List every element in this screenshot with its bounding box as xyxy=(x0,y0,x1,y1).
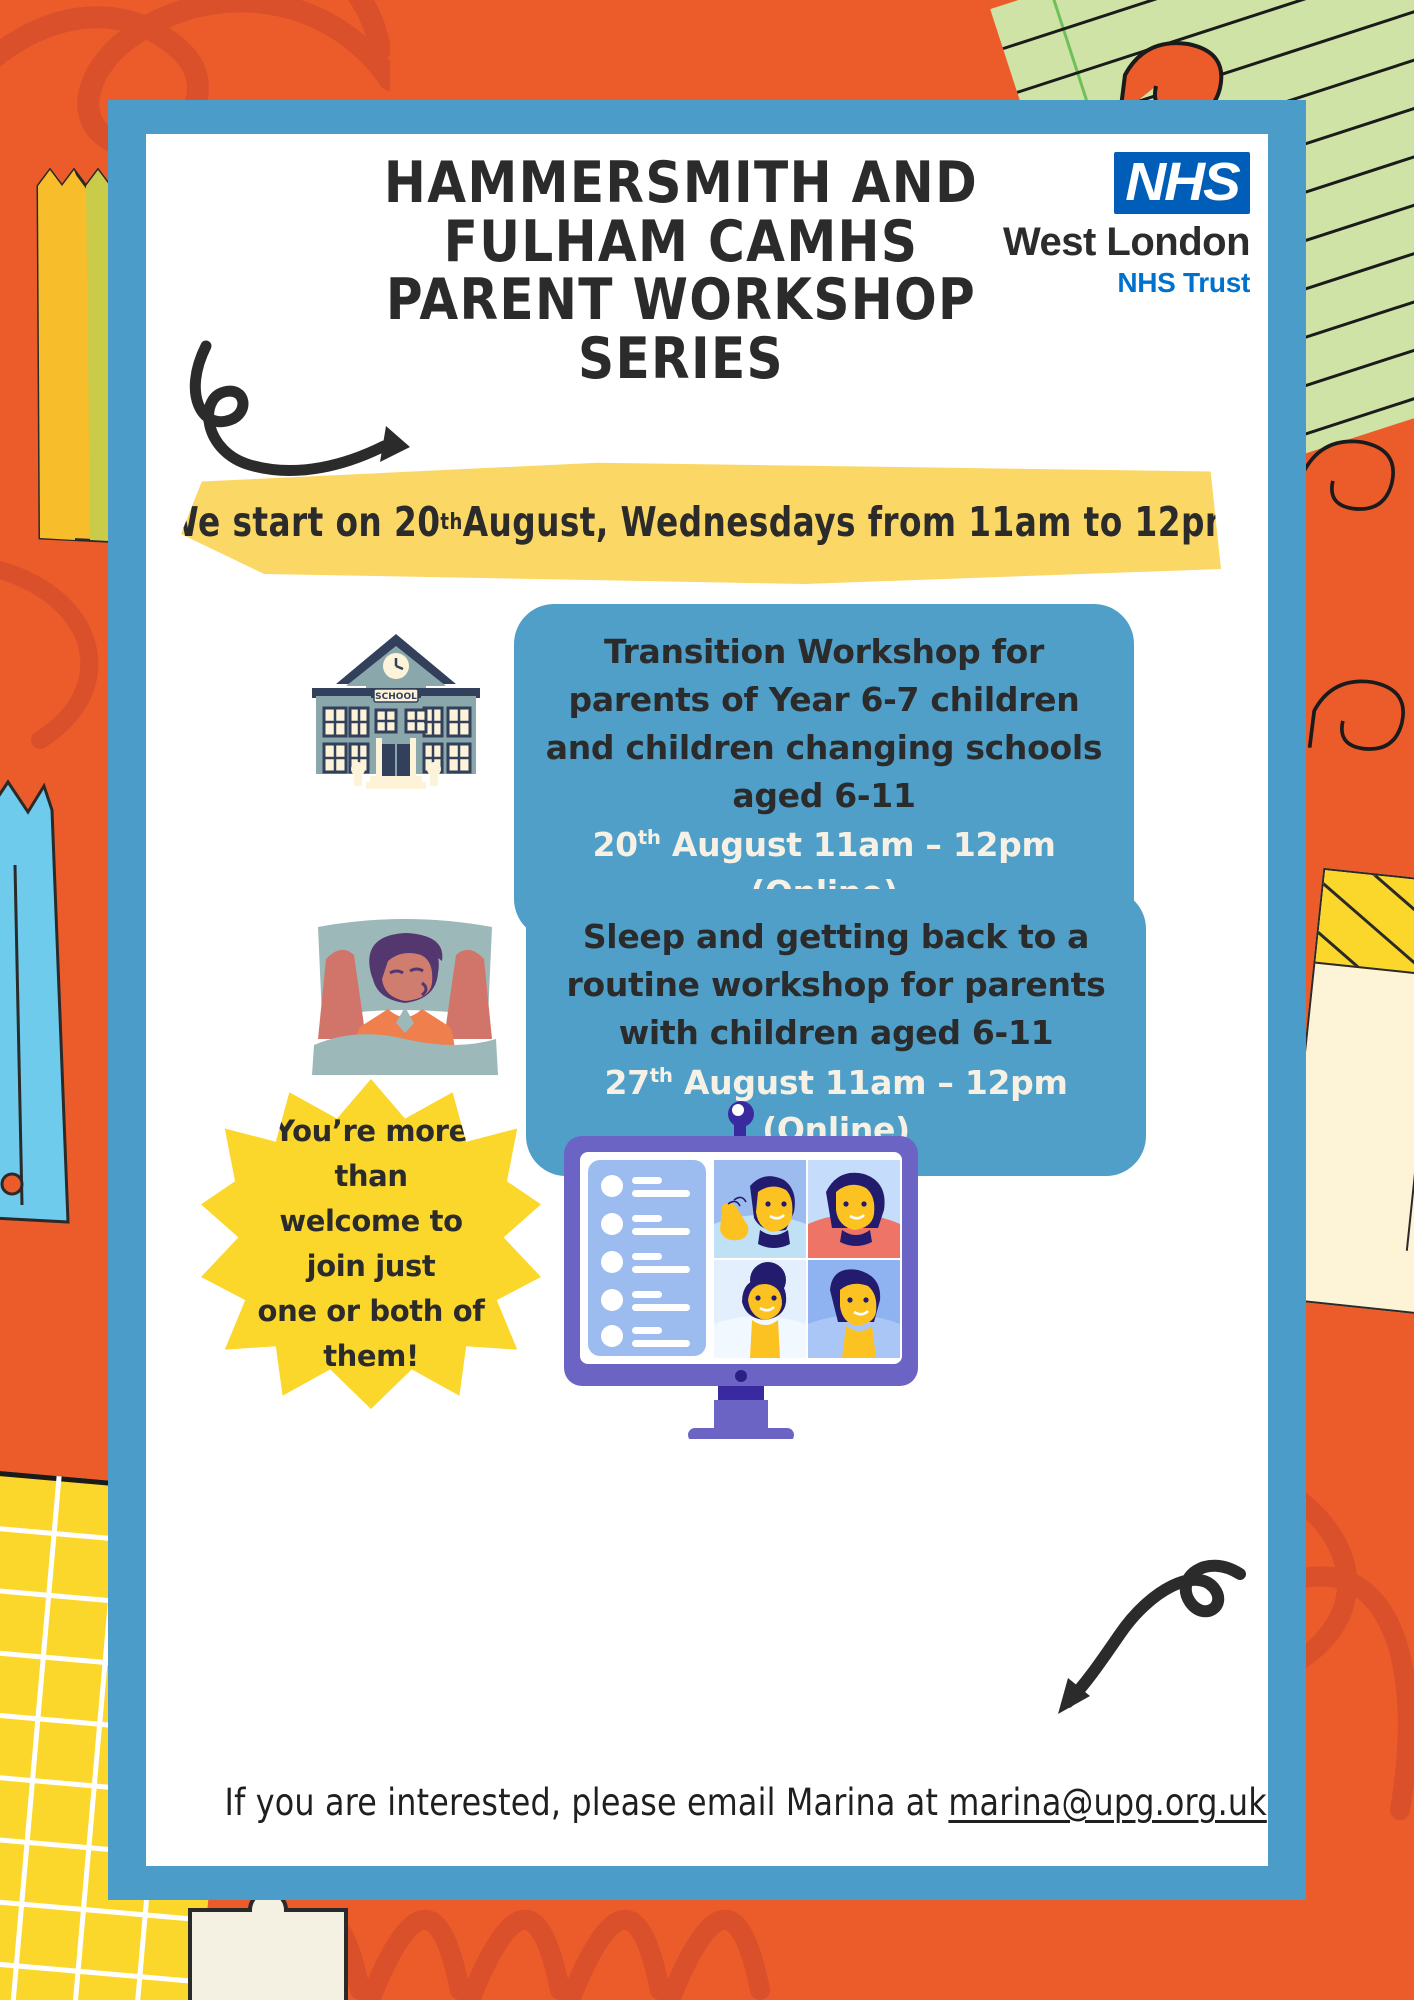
poster-frame: HAMMERSMITH AND FULHAM CAMHS PARENT WORK… xyxy=(108,100,1306,1900)
nhs-logo: NHS West London NHS Trust xyxy=(980,152,1250,299)
paper-clip-icon-3 xyxy=(1300,660,1414,780)
blue-torn-paper-strip xyxy=(0,770,90,1240)
notepad-striped-header xyxy=(1315,870,1414,990)
puzzle-piece-icon xyxy=(180,1900,360,2000)
curly-arrow-icon-top xyxy=(188,334,418,484)
contact-footer: If you are interested, please email Mari… xyxy=(225,1781,1190,1824)
banner-ordinal: th xyxy=(440,509,462,535)
contact-lead-text: If you are interested, please email Mari… xyxy=(225,1781,949,1824)
title-line-4: SERIES xyxy=(342,330,1020,389)
nhs-mark-text: NHS xyxy=(1125,155,1238,209)
starburst-text: You’re more than welcome to join just on… xyxy=(246,1109,496,1379)
contact-email-link[interactable]: marina@upg.org.uk xyxy=(948,1781,1266,1824)
svg-text:SCHOOL: SCHOOL xyxy=(375,692,417,702)
video-call-monitor-icon xyxy=(546,1094,936,1439)
workshop-1-description: Transition Workshop for parents of Year … xyxy=(544,628,1104,819)
workshop-2-description: Sleep and getting back to a routine work… xyxy=(556,913,1116,1057)
title-line-2: FULHAM CAMHS xyxy=(342,213,1020,272)
title-line-3: PARENT WORKSHOP xyxy=(342,271,1020,330)
poster-card: HAMMERSMITH AND FULHAM CAMHS PARENT WORK… xyxy=(146,134,1268,1866)
burst-line-1: You’re more than xyxy=(246,1109,496,1199)
page-title: HAMMERSMITH AND FULHAM CAMHS PARENT WORK… xyxy=(342,154,1020,389)
start-date-text: We start on 20th August, Wednesdays from… xyxy=(285,459,1117,584)
burst-line-3: one or both of them! xyxy=(246,1289,496,1379)
title-line-1: HAMMERSMITH AND xyxy=(342,154,1020,213)
nhs-mark: NHS xyxy=(1114,152,1250,214)
nhs-trust-type: NHS Trust xyxy=(980,267,1250,299)
w1-ordinal: th xyxy=(638,826,661,849)
person-in-bed-icon xyxy=(296,899,514,1079)
nhs-trust-name: West London xyxy=(980,220,1250,265)
w2-ordinal: th xyxy=(650,1064,673,1087)
paper-clip-icon-2 xyxy=(1290,420,1414,540)
curly-arrow-icon-bottom xyxy=(1028,1556,1248,1736)
poster-root: HAMMERSMITH AND FULHAM CAMHS PARENT WORK… xyxy=(0,0,1414,2000)
school-building-icon: SCHOOL xyxy=(296,626,496,791)
banner-suffix: August, Wednesdays from 11am to 12pm xyxy=(463,498,1240,546)
banner-prefix: We start on 20 xyxy=(163,498,441,546)
w1-date: 20 xyxy=(592,825,637,864)
start-date-banner: We start on 20th August, Wednesdays from… xyxy=(181,459,1221,584)
burst-line-2: welcome to join just xyxy=(246,1199,496,1289)
